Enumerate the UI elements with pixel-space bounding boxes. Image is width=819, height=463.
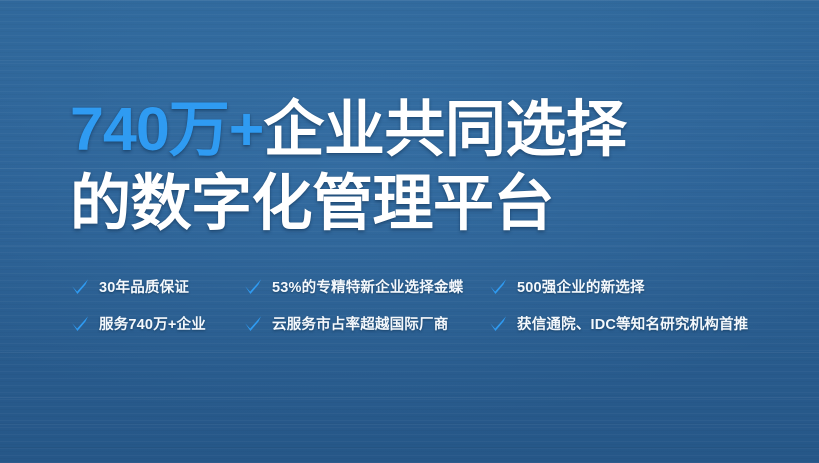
headline: 740万+企业共同选择 的数字化管理平台 (70, 92, 760, 240)
check-icon (70, 277, 90, 297)
headline-line-2: 的数字化管理平台 (70, 166, 760, 240)
feature-list: 30年品质保证 53%的专精特新企业选择金蝶 (70, 268, 770, 342)
feature-item: 服务740万+企业 (70, 313, 243, 334)
feature-item: 53%的专精特新企业选择金蝶 (243, 276, 488, 297)
feature-label: 云服务市占率超越国际厂商 (272, 313, 448, 334)
headline-accent-number: 740万+ (70, 95, 263, 163)
feature-item: 500强企业的新选择 (488, 276, 768, 297)
check-icon (243, 314, 263, 334)
feature-row: 服务740万+企业 云服务市占率超越国际厂商 (70, 305, 770, 342)
feature-label: 500强企业的新选择 (517, 276, 645, 297)
check-icon (488, 277, 508, 297)
feature-label: 获信通院、IDC等知名研究机构首推 (517, 313, 748, 334)
feature-item: 30年品质保证 (70, 276, 243, 297)
headline-line-1: 740万+企业共同选择 (70, 92, 760, 166)
check-icon (488, 314, 508, 334)
check-icon (70, 314, 90, 334)
promo-banner: 740万+企业共同选择 的数字化管理平台 30年品质保证 (0, 0, 819, 463)
feature-item: 云服务市占率超越国际厂商 (243, 313, 488, 334)
feature-label: 53%的专精特新企业选择金蝶 (272, 276, 463, 297)
feature-item: 获信通院、IDC等知名研究机构首推 (488, 313, 768, 334)
feature-label: 服务740万+企业 (99, 313, 206, 334)
feature-label: 30年品质保证 (99, 276, 189, 297)
check-icon (243, 277, 263, 297)
banner-content: 740万+企业共同选择 的数字化管理平台 30年品质保证 (0, 0, 819, 463)
headline-line-1-rest: 企业共同选择 (263, 95, 626, 163)
feature-row: 30年品质保证 53%的专精特新企业选择金蝶 (70, 268, 770, 305)
